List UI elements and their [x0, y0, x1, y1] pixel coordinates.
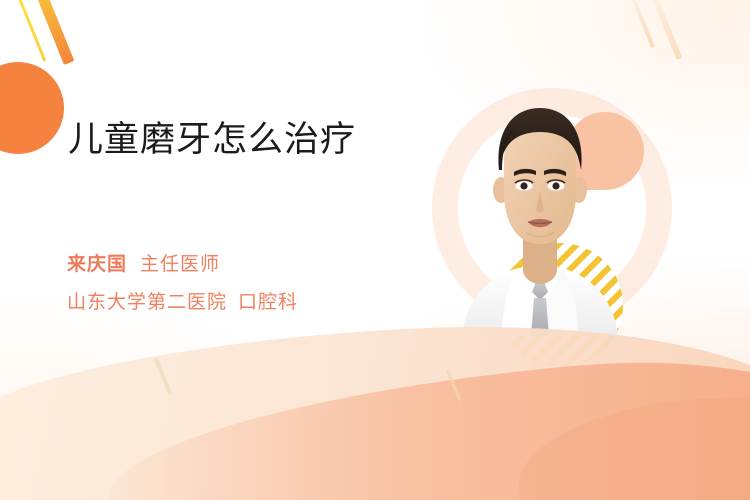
faint-diagonal-stripe-bottom-center [446, 369, 462, 402]
pale-diagonal-stripe-decoration-b [644, 0, 683, 60]
faint-diagonal-stripe-bottom-left [154, 357, 173, 396]
doctor-name: 来庆国 [67, 254, 127, 275]
yellow-diagonal-stripe-decoration [17, 0, 47, 62]
doctor-rank: 主任医师 [140, 254, 220, 275]
orange-circle-decoration [0, 62, 64, 154]
doctor-credentials: 来庆国主任医师 山东大学第二医院口腔科 [67, 246, 298, 322]
doctor-affiliation-line: 山东大学第二医院口腔科 [67, 284, 298, 322]
doctor-hospital: 山东大学第二医院 [67, 292, 227, 313]
salmon-wave-soft-decoration [512, 383, 750, 500]
pale-diagonal-stripe-decoration-a [625, 0, 655, 48]
doctor-name-line: 来庆国主任医师 [67, 246, 298, 284]
doctor-video-cover-card: 儿童磨牙怎么治疗 来庆国主任医师 山东大学第二医院口腔科 [0, 0, 750, 500]
doctor-portrait [452, 86, 628, 336]
orange-diagonal-stripe-decoration [33, 0, 75, 65]
page-title: 儿童磨牙怎么治疗 [68, 118, 356, 162]
doctor-department: 口腔科 [238, 292, 298, 313]
salmon-wave-decoration [100, 338, 750, 500]
pale-peach-wave-decoration [0, 306, 750, 500]
